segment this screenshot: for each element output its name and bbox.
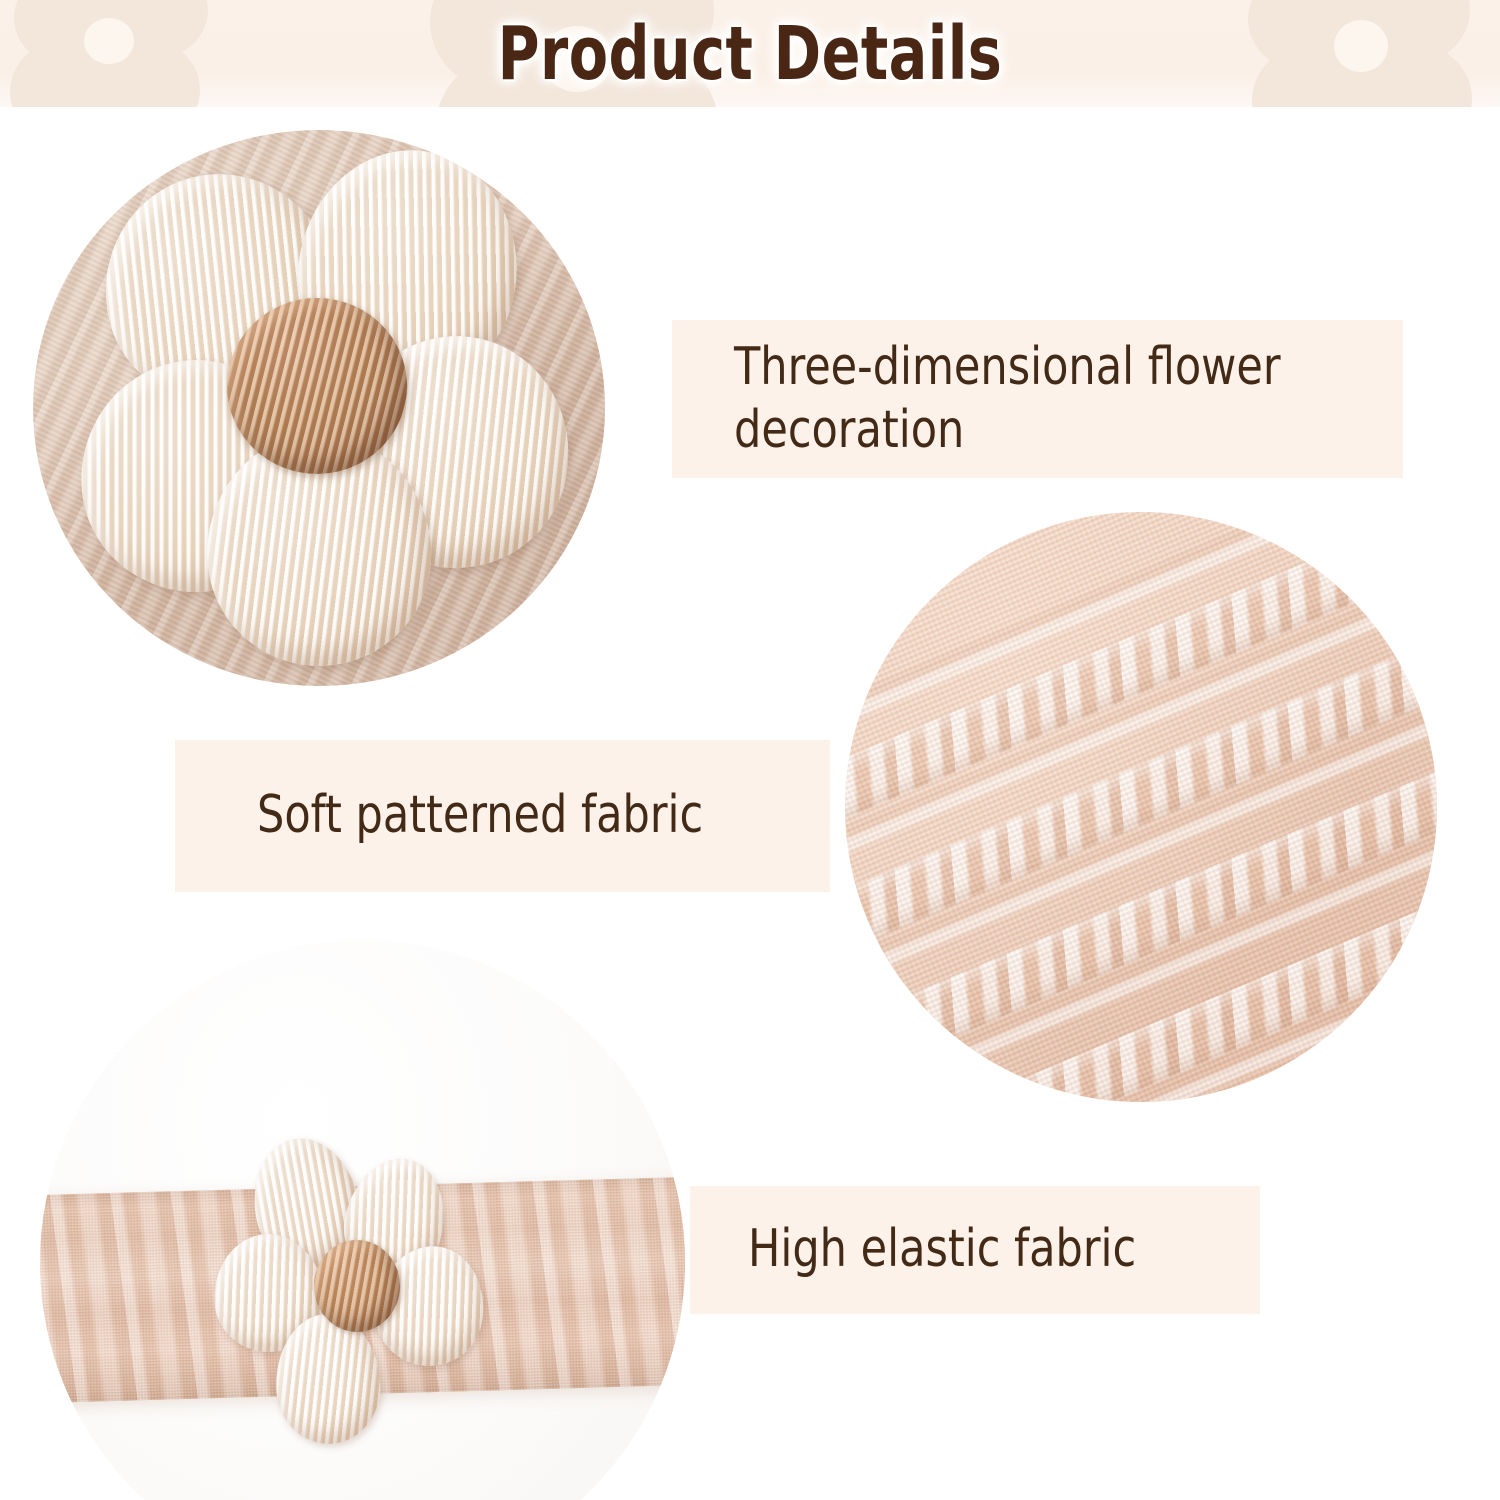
feature-label-1-text: Three-dimensional flower decoration	[734, 336, 1349, 463]
flower-closeup-photo	[33, 130, 605, 686]
page-title: Product Details	[105, 0, 1395, 107]
feature-label-3-text: High elastic fabric	[748, 1218, 1136, 1281]
fabric-texture-photo	[845, 512, 1437, 1102]
fabric-flower	[51, 138, 591, 678]
headband-full-photo	[40, 940, 685, 1500]
feature-label-3: High elastic fabric	[690, 1186, 1260, 1314]
feature-label-1: Three-dimensional flower decoration	[672, 320, 1403, 478]
knit-weave-texture	[845, 512, 1437, 1102]
header-banner: Product Details	[0, 0, 1500, 107]
feature-label-2: Soft patterned fabric	[175, 740, 830, 892]
product-details-infographic: Product Details Three-dimensional flower…	[0, 0, 1500, 1500]
fabric-flower	[206, 1138, 516, 1448]
feature-label-2-text: Soft patterned fabric	[257, 784, 703, 847]
